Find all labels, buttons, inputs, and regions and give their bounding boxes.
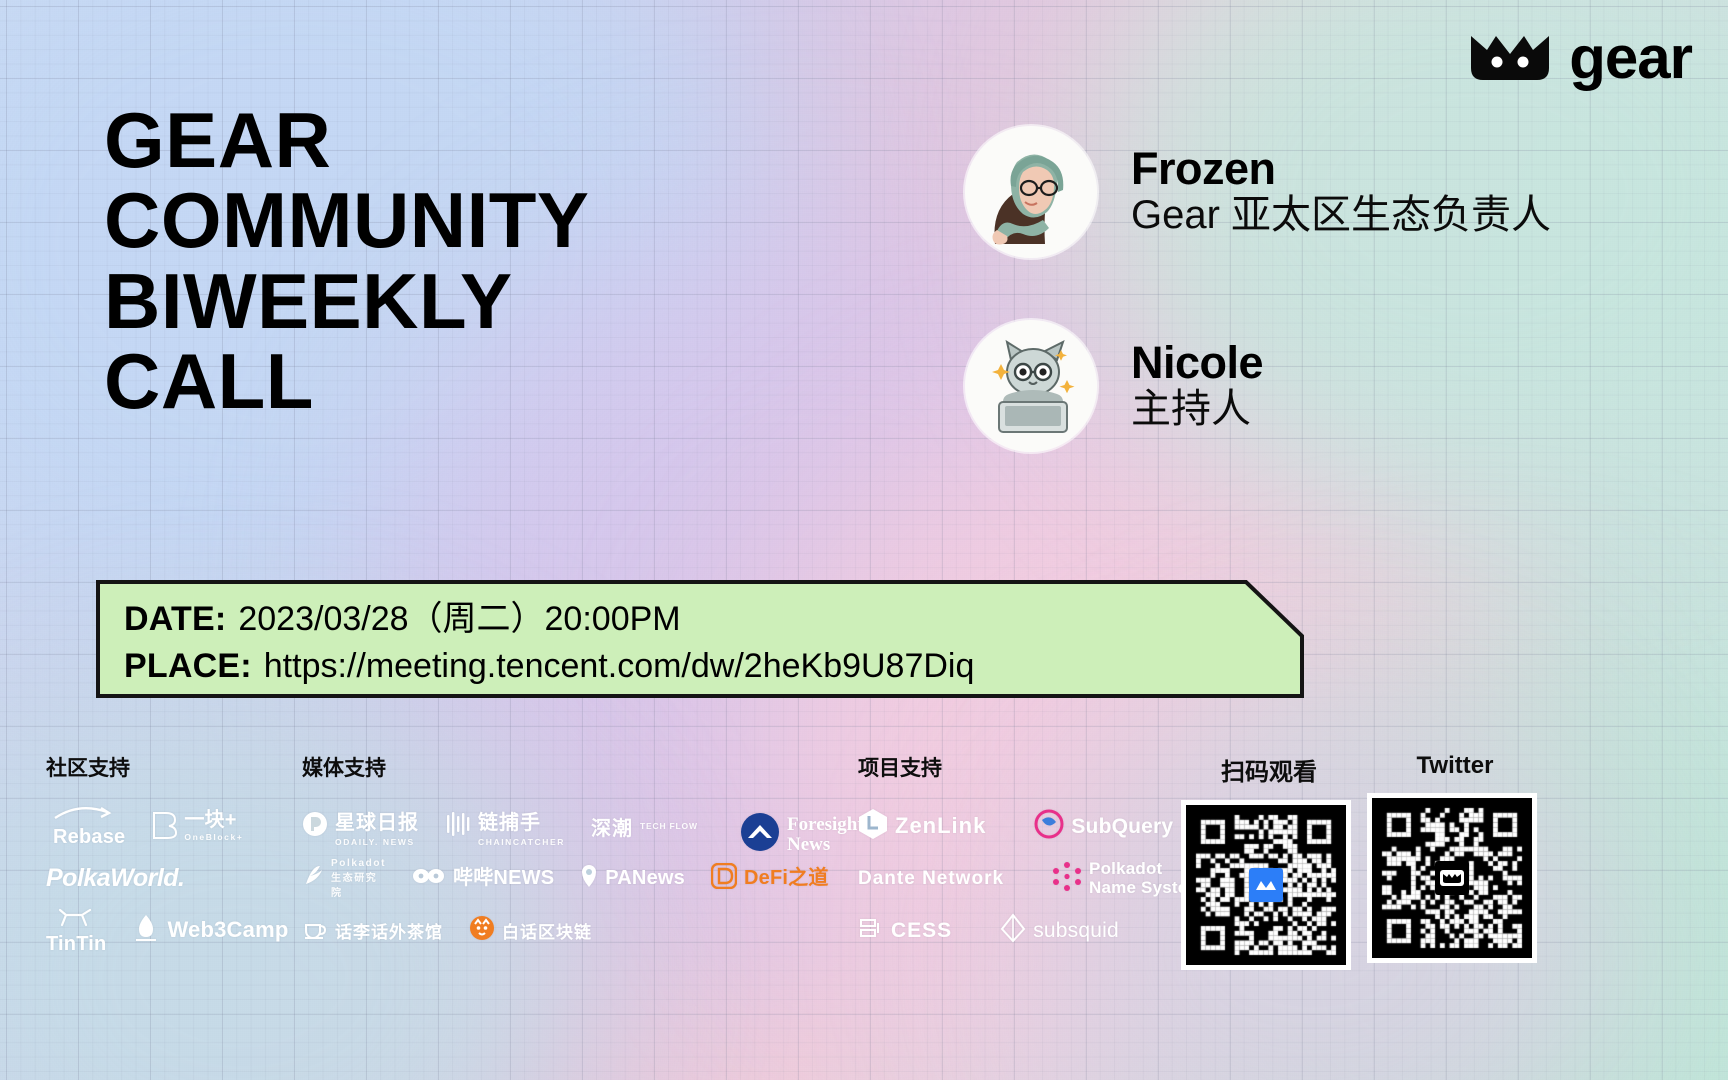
- logo-defi-dao[interactable]: DeFi之道: [711, 863, 829, 894]
- logo-label: PANews: [605, 868, 685, 888]
- logo-label: subsquid: [1033, 920, 1119, 941]
- qr-block-scan: 扫码观看: [1186, 752, 1352, 965]
- headline-line-4: CALL: [104, 341, 864, 421]
- logo-row: CESS subsquid: [858, 904, 1158, 956]
- gear-logo-icon: [1435, 861, 1469, 895]
- logo-label: CESS: [891, 920, 952, 941]
- event-info-text: DATE: 2023/03/28（周二）20:00PM PLACE: https…: [124, 596, 974, 690]
- logo-label: Rebase: [53, 827, 125, 847]
- poster-canvas: gear GEAR COMMUNITY BIWEEKLY CALL: [0, 0, 1728, 1080]
- logo-techflow[interactable]: 深潮 TECH FLOW: [591, 812, 698, 841]
- oneblock-b-icon: [151, 809, 177, 844]
- logo-foresight-wrap: Foresight News: [740, 812, 864, 857]
- logo-teahouse[interactable]: 话李话外茶馆: [302, 915, 443, 946]
- sponsor-column-project: 项目支持 ZenLink: [858, 752, 1158, 956]
- qr-title-twitter: Twitter: [1372, 752, 1538, 780]
- wechat-channels-icon: [1249, 868, 1283, 902]
- web3camp-flame-icon: [132, 913, 160, 948]
- tintin-dog-icon: [56, 907, 96, 932]
- date-label: DATE:: [124, 596, 226, 643]
- pns-dots-icon: [1052, 861, 1082, 896]
- logo-panews[interactable]: PANews: [580, 864, 685, 893]
- logo-label: Polkadot生态研究院: [331, 858, 386, 899]
- sponsor-column-community: 社区支持 Rebase: [46, 752, 296, 956]
- logo-row: TinTin Web3Camp: [46, 904, 296, 956]
- foresight-circle-icon: [740, 812, 780, 857]
- logo-baihua-blockchain[interactable]: 白话区块链: [469, 915, 592, 946]
- logo-label: 链捕手: [478, 806, 565, 835]
- logo-row: Dante Network: [858, 852, 1158, 904]
- logo-tintin[interactable]: TinTin: [46, 907, 106, 954]
- panews-icon: [580, 864, 598, 893]
- logo-label: 一块+: [184, 810, 243, 830]
- logo-sublabel: ODAILY. NEWS: [335, 837, 419, 847]
- sponsor-section: 社区支持 Rebase: [0, 752, 1728, 972]
- rebase-arrow-icon: [53, 806, 125, 825]
- headline-line-3: BIWEEKLY: [104, 261, 864, 341]
- event-date-row: DATE: 2023/03/28（周二）20:00PM: [124, 596, 974, 643]
- logo-row: Rebase 一块+ OneBlock+: [46, 800, 296, 852]
- logo-polkadot-name-system[interactable]: Polkadot Name System: [1052, 860, 1203, 896]
- logo-odaily[interactable]: 星球日报 ODAILY. NEWS: [302, 806, 419, 847]
- speaker-name: Nicole: [1131, 339, 1263, 386]
- logo-label: 深潮: [591, 812, 633, 841]
- logo-subsquid[interactable]: subsquid: [1000, 913, 1119, 948]
- page-title: GEAR COMMUNITY BIWEEKLY CALL: [104, 100, 864, 421]
- odaily-circle-icon: [302, 811, 328, 842]
- qr-code-twitter[interactable]: [1372, 798, 1532, 958]
- event-place-row: PLACE: https://meeting.tencent.com/dw/2h…: [124, 643, 974, 690]
- teahouse-icon: [302, 915, 328, 946]
- logo-label: Dante Network: [858, 869, 1004, 888]
- baihua-fox-icon: [469, 915, 495, 946]
- avatar-nicole: [965, 320, 1097, 452]
- logo-label: 星球日报: [335, 806, 419, 835]
- logo-bibinews[interactable]: 哔哔NEWS: [412, 866, 554, 891]
- qr-block-twitter: Twitter: [1372, 752, 1538, 958]
- logo-label: 白话区块链: [502, 918, 592, 943]
- speaker-role: Gear 亚太区生态负责人: [1131, 192, 1551, 239]
- bibi-icon: [412, 866, 446, 891]
- logo-web3camp[interactable]: Web3Camp: [132, 913, 288, 948]
- logo-sublabel: CHAINCATCHER: [478, 837, 565, 847]
- speaker-role: 主持人: [1131, 386, 1263, 433]
- speaker-card-frozen: Frozen Gear 亚太区生态负责人: [965, 126, 1685, 258]
- logo-label: 哔哔NEWS: [453, 868, 554, 888]
- logo-dante-network[interactable]: Dante Network: [858, 869, 1004, 888]
- gear-brand-lockup: gear: [1467, 28, 1692, 88]
- logo-row: PolkaWorld.: [46, 852, 296, 904]
- headline-line-1: GEAR: [104, 100, 864, 180]
- avatar-frozen: [965, 126, 1097, 258]
- speaker-list: Frozen Gear 亚太区生态负责人: [965, 126, 1685, 514]
- event-info-banner: DATE: 2023/03/28（周二）20:00PM PLACE: https…: [96, 580, 1304, 698]
- gear-w-logo-icon: [1467, 28, 1553, 88]
- qr-code-scan[interactable]: [1186, 805, 1346, 965]
- subquery-circle-icon: [1034, 809, 1064, 844]
- logo-row: ZenLink SubQuery: [858, 800, 1158, 852]
- logo-polkadot-research[interactable]: Polkadot生态研究院: [302, 858, 386, 899]
- logo-label: TinTin: [46, 934, 106, 954]
- logo-zenlink[interactable]: ZenLink: [858, 808, 986, 845]
- zenlink-hex-icon: [858, 808, 888, 845]
- brand-name: gear: [1569, 28, 1692, 88]
- logo-foresight-news[interactable]: Foresight News: [740, 812, 864, 857]
- logo-label: ZenLink: [895, 815, 986, 837]
- logo-row: Polkadot生态研究院 哔哔NEWS: [302, 852, 822, 904]
- qr-title-scan: 扫码观看: [1186, 752, 1352, 787]
- logo-sublabel: TECH FLOW: [640, 821, 698, 831]
- date-value: 2023/03/28（周二）20:00PM: [238, 596, 680, 643]
- column-title-community: 社区支持: [46, 752, 296, 782]
- logo-oneblock[interactable]: 一块+ OneBlock+: [151, 809, 243, 844]
- logo-subquery[interactable]: SubQuery: [1034, 809, 1173, 844]
- column-title-project: 项目支持: [858, 752, 1158, 782]
- column-title-media: 媒体支持: [302, 752, 822, 782]
- logo-cess[interactable]: CESS: [858, 915, 952, 946]
- logo-row: 话李话外茶馆 白话区块链: [302, 904, 822, 956]
- polkadot-research-icon: [302, 864, 324, 893]
- meeting-link[interactable]: https://meeting.tencent.com/dw/2heKb9U87…: [264, 643, 975, 690]
- speaker-meta-frozen: Frozen Gear 亚太区生态负责人: [1131, 145, 1551, 239]
- logo-label: Web3Camp: [167, 919, 288, 941]
- place-label: PLACE:: [124, 643, 252, 690]
- speaker-card-nicole: Nicole 主持人: [965, 320, 1685, 452]
- logo-polkaworld[interactable]: PolkaWorld.: [46, 866, 185, 891]
- headline-line-2: COMMUNITY: [104, 180, 864, 260]
- cess-icon: [858, 915, 884, 946]
- defi-dao-icon: [711, 863, 737, 894]
- logo-label: SubQuery: [1071, 816, 1173, 837]
- logo-rebase[interactable]: Rebase: [46, 806, 125, 847]
- logo-sublabel: OneBlock+: [184, 832, 243, 842]
- logo-label: DeFi之道: [744, 868, 829, 888]
- speaker-name: Frozen: [1131, 145, 1551, 192]
- subsquid-icon: [1000, 913, 1026, 948]
- speaker-meta-nicole: Nicole 主持人: [1131, 339, 1263, 433]
- logo-label: 话李话外茶馆: [335, 918, 443, 943]
- logo-chaincatcher[interactable]: 链捕手 CHAINCATCHER: [445, 806, 565, 847]
- logo-label: PolkaWorld.: [46, 866, 185, 891]
- chaincatcher-bars-icon: [445, 811, 471, 842]
